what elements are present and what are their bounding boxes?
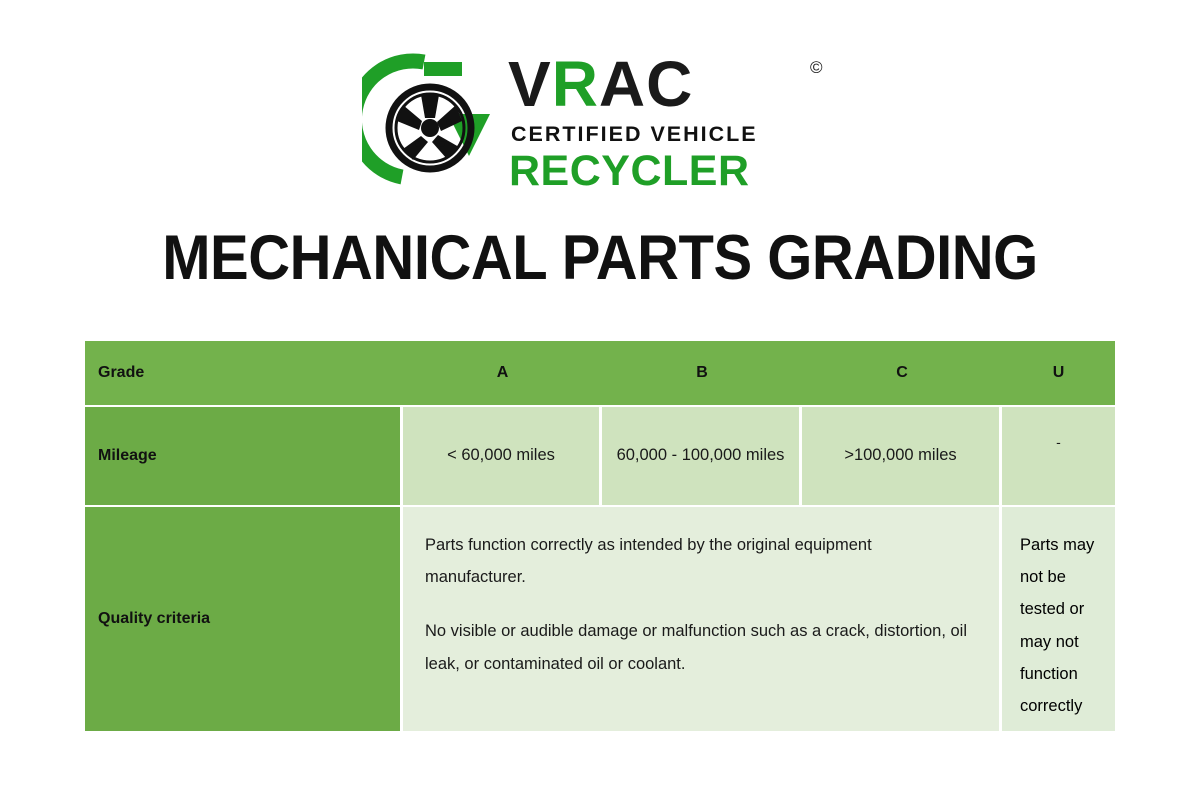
copyright-icon: © xyxy=(810,58,823,78)
grading-chart-page: VRAC © CERTIFIED VEHICLE RECYCLER MECHAN… xyxy=(0,0,1200,800)
logo-letters-ac: AC xyxy=(599,48,693,120)
quality-cell-abc: Parts function correctly as intended by … xyxy=(403,507,999,731)
page-title: MECHANICAL PARTS GRADING xyxy=(48,222,1152,294)
header-cell-c: C xyxy=(802,341,1002,405)
recycling-wheel-icon xyxy=(362,52,498,192)
row-label-mileage: Mileage xyxy=(85,407,400,505)
header-cell-u: U xyxy=(1002,341,1115,405)
logo-tagline: CERTIFIED VEHICLE xyxy=(511,122,758,147)
quality-cell-u: Parts may not be tested or may not funct… xyxy=(1002,507,1115,731)
mileage-cell-b: 60,000 - 100,000 miles xyxy=(602,407,799,505)
quality-paragraph-2: No visible or audible damage or malfunct… xyxy=(425,615,977,679)
header-cell-grade: Grade xyxy=(98,364,144,382)
logo-letter-v: V xyxy=(508,48,552,120)
mileage-cell-c: >100,000 miles xyxy=(802,407,999,505)
vrac-logo: VRAC © CERTIFIED VEHICLE RECYCLER xyxy=(0,52,1200,202)
logo-recycler-text: RECYCLER xyxy=(509,147,750,196)
logo-wordmark: VRAC © CERTIFIED VEHICLE RECYCLER xyxy=(508,52,838,192)
quality-paragraph-1: Parts function correctly as intended by … xyxy=(425,529,977,593)
logo-inner: VRAC © CERTIFIED VEHICLE RECYCLER xyxy=(362,52,838,192)
mechanical-parts-grading-table: Grade A B C U Mileage < 60,000 miles 60,… xyxy=(85,341,1115,731)
header-cell-a: A xyxy=(403,341,602,405)
row-label-quality-criteria: Quality criteria xyxy=(85,507,400,731)
mileage-cell-u: - xyxy=(1002,407,1115,505)
logo-letter-r: R xyxy=(552,48,599,120)
header-cell-b: B xyxy=(602,341,802,405)
mileage-cell-a: < 60,000 miles xyxy=(403,407,599,505)
logo-vrac-text: VRAC xyxy=(508,52,693,116)
